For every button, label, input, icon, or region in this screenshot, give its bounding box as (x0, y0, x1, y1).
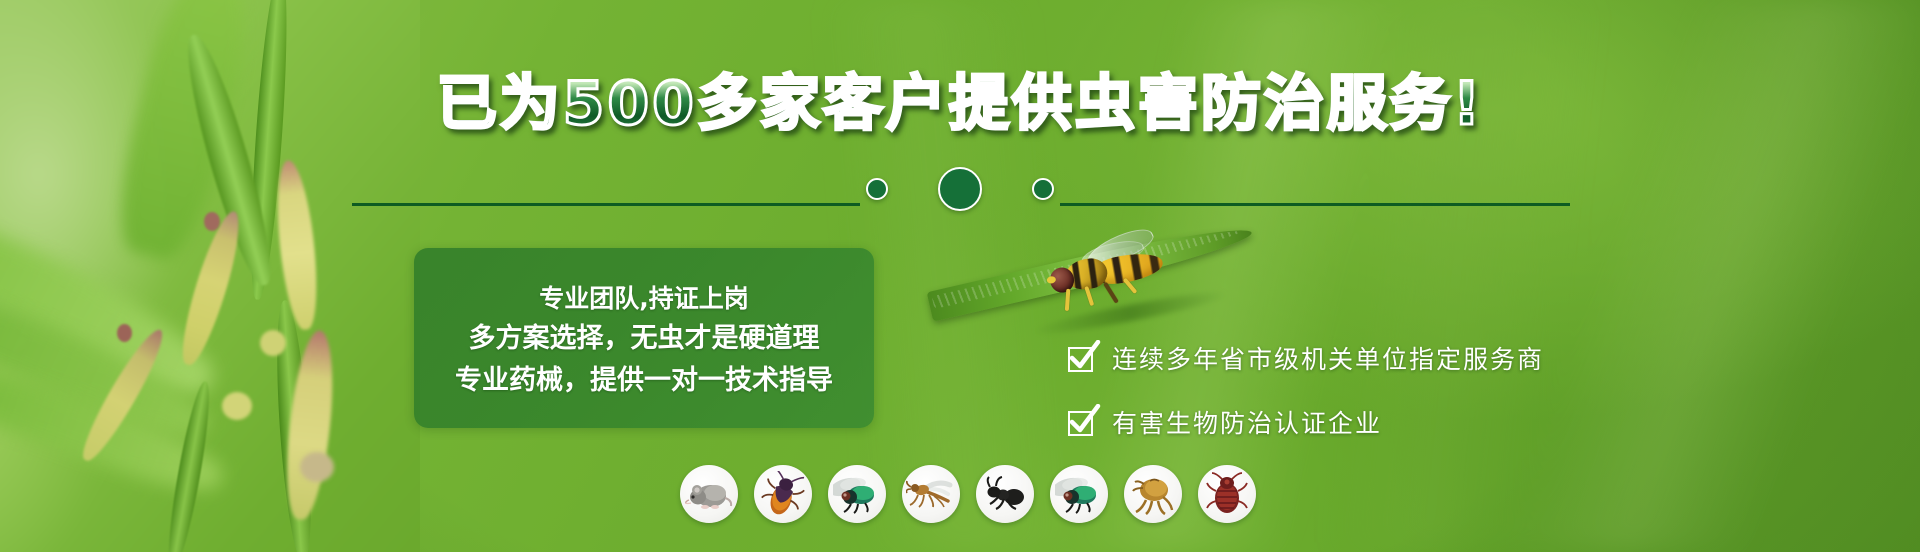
checklist-item-label: 有害生物防治认证企业 (1112, 404, 1382, 440)
check-icon (1068, 407, 1098, 437)
check-icon (1068, 343, 1098, 373)
feature-line-2: 多方案选择，无虫才是硬道理 (469, 324, 820, 354)
checklist-item-label: 连续多年省市级机关单位指定服务商 (1112, 340, 1544, 376)
mosquito-icon[interactable] (902, 465, 960, 523)
ant-icon[interactable] (976, 465, 1034, 523)
hoverfly-leg (1065, 289, 1071, 311)
divider-dot-small-left (866, 178, 888, 200)
checklist-item: 连续多年省市级机关单位指定服务商 (1068, 340, 1544, 376)
hoverfly-leg (1084, 286, 1094, 306)
cockroach-icon[interactable] (754, 465, 812, 523)
plant-bud (260, 330, 286, 356)
plant-bud (300, 452, 334, 482)
feature-line-1: 专业团队,持证上岗 (539, 285, 749, 313)
divider-dots (860, 162, 1060, 216)
plant-bud (222, 392, 252, 420)
plant-bud (117, 324, 132, 342)
features-panel: 专业团队,持证上岗 多方案选择，无虫才是硬道理 专业药械，提供一对一技术指导 (414, 248, 874, 428)
fly-icon[interactable] (828, 465, 886, 523)
divider-dot-small-right (1032, 178, 1054, 200)
blowfly-icon[interactable] (1050, 465, 1108, 523)
mouse-icon[interactable] (680, 465, 738, 523)
checklist-item: 有害生物防治认证企业 (1068, 404, 1544, 440)
page-title: 已为500多家客户提供虫害防治服务! (0, 74, 1920, 134)
certification-checklist: 连续多年省市级机关单位指定服务商 有害生物防治认证企业 (1068, 340, 1544, 440)
flea-icon[interactable] (1124, 465, 1182, 523)
pest-control-banner: 已为500多家客户提供虫害防治服务! 已为500多家客户提供虫害防治服务! 专业… (0, 0, 1920, 552)
divider-line-right (1060, 203, 1570, 206)
pest-icon-row (680, 465, 1256, 523)
divider-line-left (352, 203, 860, 206)
hoverfly-leg (1103, 282, 1119, 304)
feature-line-3: 专业药械，提供一对一技术指导 (455, 366, 833, 396)
plant-bud (204, 212, 220, 231)
divider-dot-large-center (938, 167, 982, 211)
bedbug-icon[interactable] (1198, 465, 1256, 523)
